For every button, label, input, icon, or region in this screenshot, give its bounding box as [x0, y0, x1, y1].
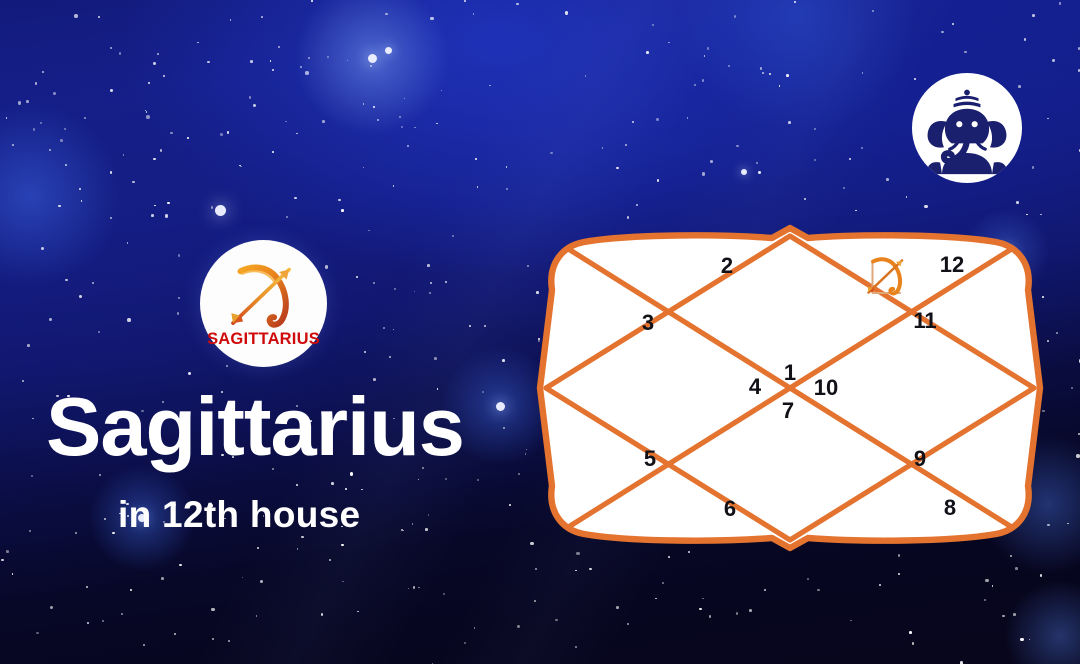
house-number-5: 5 [644, 446, 656, 471]
ganesha-icon [919, 80, 1015, 176]
house-number-8: 8 [944, 495, 956, 520]
house-number-9: 9 [914, 446, 926, 471]
house-number-3: 3 [642, 310, 654, 335]
badge-caption: SAGITTARIUS [207, 330, 320, 349]
house-number-12: 12 [940, 252, 964, 277]
house-number-7: 7 [782, 398, 794, 423]
birth-chart: 1 2 3 4 5 6 7 8 9 10 11 12 [540, 228, 1040, 548]
house-number-1: 1 [784, 360, 796, 385]
house-number-10: 10 [814, 375, 838, 400]
page-title: Sagittarius [46, 385, 566, 468]
house-number-6: 6 [724, 496, 736, 521]
sagittarius-bow-arrow-icon [221, 262, 307, 334]
house-number-4: 4 [749, 374, 762, 399]
sagittarius-badge: SAGITTARIUS [200, 240, 327, 367]
kundli-diagram: 1 2 3 4 5 6 7 8 9 10 11 12 [540, 228, 1040, 548]
brand-logo [912, 73, 1022, 183]
page-subtitle: in 12th house [118, 494, 360, 536]
starfield-background: SAGITTARIUS Sagittarius in 12th house [0, 0, 1080, 664]
house-number-11: 11 [913, 308, 936, 333]
house-number-2: 2 [721, 253, 733, 278]
